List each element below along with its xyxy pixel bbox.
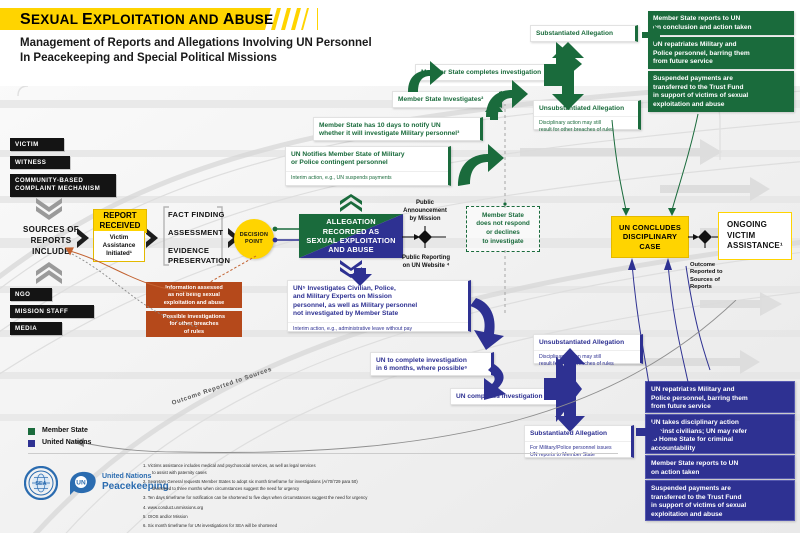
outcome-line4: Reports bbox=[690, 284, 750, 291]
public-node-diamond bbox=[402, 226, 448, 248]
green-out2-line2: Police personnel, barring them bbox=[653, 50, 789, 59]
un-peacekeeping-logo-mark: UN bbox=[68, 470, 98, 496]
source-tag-victim: VICTIM bbox=[10, 138, 64, 151]
green-out3-line1: Suspended payments are bbox=[653, 75, 789, 84]
ongoing-victim-assistance-box[interactable]: ONGOING VICTIM ASSISTANCE¹ bbox=[718, 212, 792, 260]
green-leader-lines bbox=[590, 112, 730, 222]
un-concludes-line1: UN CONCLUDES bbox=[619, 223, 681, 233]
legend-swatch-united-nations bbox=[28, 440, 35, 447]
report-received-line2: RECEIVED bbox=[100, 221, 141, 231]
green-out1-line1: Member State reports to UN bbox=[653, 15, 789, 24]
un-concludes-disciplinary-case-box[interactable]: UN CONCLUDES DISCIPLINARY CASE bbox=[611, 216, 689, 258]
green-out2-line1: UN repatriates Military and bbox=[653, 41, 789, 50]
blue-out4-line4: exploitation and abuse bbox=[651, 511, 789, 520]
un-concludes-line3: CASE bbox=[639, 242, 660, 252]
public-announcement-label: Public Announcement by Mission bbox=[390, 199, 460, 223]
source-tag-media: MEDIA bbox=[10, 322, 62, 335]
infographic-canvas: SEXUAL EXPLOITATION AND ABUSE Management… bbox=[0, 0, 800, 533]
allegation-recorded-box[interactable]: ALLEGATION RECORDED AS SEXUAL EXPLOITATI… bbox=[299, 214, 403, 258]
no-response-line3: or declines bbox=[476, 229, 530, 238]
source-tag-cbcm-line1: COMMUNITY-BASED bbox=[15, 177, 111, 185]
footnote-4[interactable]: 4. www.conduct.unmissions.org bbox=[143, 505, 443, 512]
green-out3-line2: transferred to the Trust Fund bbox=[653, 84, 789, 93]
ongoing-line3: ASSISTANCE¹ bbox=[727, 241, 783, 252]
outcome-reported-label: Outcome Reported to Sources of Reports bbox=[690, 262, 750, 292]
footnote-1-line2: to assist with paternity cases bbox=[152, 470, 452, 477]
no-response-line4: to investigate bbox=[476, 238, 530, 247]
green-outcome-box-1: Member State reports to UN on conclusion… bbox=[648, 11, 794, 35]
source-tag-witness: WITNESS bbox=[10, 156, 70, 169]
allegation-recorded-label: ALLEGATION RECORDED AS SEXUAL EXPLOITATI… bbox=[299, 214, 403, 258]
green-outcome-box-3: Suspended payments are transferred to th… bbox=[648, 71, 794, 112]
blue-out4-line2: transferred to the Trust Fund bbox=[651, 494, 789, 503]
ongoing-line2: VICTIM bbox=[727, 231, 755, 242]
un-concludes-line2: DISCIPLINARY bbox=[623, 232, 677, 242]
source-tag-cbcm-line2: COMPLAINT MECHANISM bbox=[15, 185, 111, 193]
green-outcome-box-2: UN repatriates Military and Police perso… bbox=[648, 37, 794, 69]
svg-text:UN: UN bbox=[76, 480, 86, 487]
chevrons-down-icon bbox=[36, 198, 62, 220]
green-out2-line3: from future service bbox=[653, 58, 789, 67]
green-out3-line3: in support of victims of sexual bbox=[653, 92, 789, 101]
outcome-line3: Sources of bbox=[690, 277, 750, 284]
legend-label-member-state: Member State bbox=[42, 427, 88, 434]
blue-out4-line3: in support of victims of sexual bbox=[651, 502, 789, 511]
public-reporting-line1: Public Reporting bbox=[388, 254, 464, 262]
source-tag-cbcm: COMMUNITY-BASED COMPLAINT MECHANISM bbox=[10, 174, 116, 197]
footnote-5: 5. OIOS and/or Mission bbox=[143, 514, 443, 521]
allegation-line2: RECORDED AS bbox=[306, 227, 395, 236]
public-announcement-line1: Public bbox=[390, 199, 460, 207]
green-out1-line2: on conclusion and action taken bbox=[653, 24, 789, 33]
allegation-line4: AND ABUSE bbox=[306, 245, 395, 254]
footer-divider bbox=[28, 453, 618, 454]
footnote-2-line2: shortened to three months when circumsta… bbox=[152, 486, 492, 493]
source-tag-ngo: NGO bbox=[10, 288, 52, 301]
footnote-2-line1: 2. Secretary General requests Member Sta… bbox=[143, 479, 483, 486]
victim-assistance-line1: Victim bbox=[110, 234, 128, 242]
report-received-line1: REPORT bbox=[103, 211, 136, 221]
footnote-3: 3. Ten days timeframe for notification c… bbox=[143, 495, 503, 502]
footnote-6-line1: 6. Six month timeframe for UN investigat… bbox=[143, 523, 483, 530]
legend-label-united-nations: United Nations bbox=[42, 439, 91, 446]
sea-seal-logo: SEA bbox=[24, 466, 58, 500]
svg-text:SEA: SEA bbox=[35, 481, 46, 487]
decision-point-line2: POINT bbox=[245, 239, 263, 246]
public-announcement-line3: by Mission bbox=[390, 215, 460, 223]
no-response-line1: Member State bbox=[476, 212, 530, 221]
report-received-box[interactable]: REPORT RECEIVED bbox=[93, 209, 147, 233]
no-response-line2: does not respond bbox=[476, 220, 530, 229]
fact-finding-label: FACT FINDING bbox=[168, 210, 228, 219]
public-announcement-line2: Announcement bbox=[390, 207, 460, 215]
decision-point-line1: DECISION bbox=[240, 232, 268, 239]
allegation-line1: ALLEGATION bbox=[306, 217, 395, 226]
assessment-label: ASSESSMENT bbox=[168, 228, 228, 237]
footnote-1-line1: 1. Victims assistance includes medical a… bbox=[143, 463, 443, 470]
outcome-reported-curve bbox=[60, 300, 740, 490]
legend-swatch-member-state bbox=[28, 428, 35, 435]
green-out3-line4: exploitation and abuse bbox=[653, 101, 789, 110]
ongoing-line1: ONGOING bbox=[727, 220, 767, 231]
outcome-line1: Outcome bbox=[690, 262, 750, 269]
allegation-line3: SEXUAL EXPLOITATION bbox=[306, 236, 395, 245]
outcome-line2: Reported to bbox=[690, 269, 750, 276]
page-title: SEXUAL EXPLOITATION AND ABUSE bbox=[20, 11, 273, 29]
member-state-no-response-box: Member State does not respond or decline… bbox=[466, 206, 540, 252]
